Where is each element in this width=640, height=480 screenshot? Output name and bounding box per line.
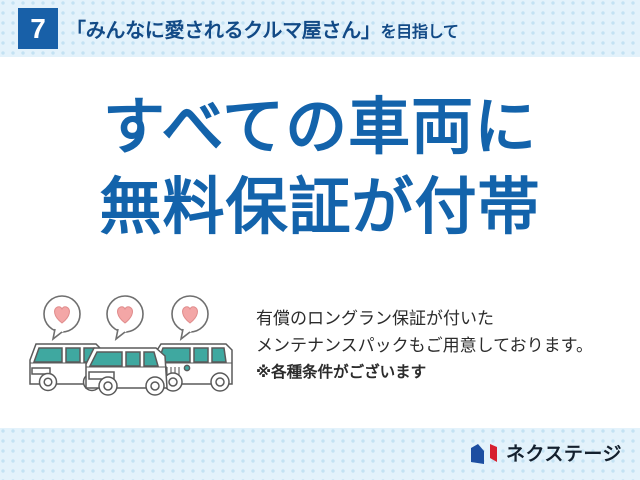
brand-logo-text: ネクステージ [506,439,622,466]
headline-line-2: 無料保証が付帯 [0,177,640,239]
car-minivan [86,348,167,395]
cars-svg [22,292,252,402]
brand-logo: ネクステージ [469,439,622,466]
header-title: 「みんなに愛されるクルマ屋さん」を目指して [66,14,459,43]
promo-poster: 7 「みんなに愛されるクルマ屋さん」を目指して すべての車両に 無料保証が付帯 [0,0,640,480]
cars-illustration [22,292,252,402]
header-title-tail: を目指して [381,24,459,41]
body-line-2: メンテナンスパックもご用意しております。 [256,332,593,359]
header-title-quote-open: 「 [66,20,86,42]
body-copy: 有償のロングラン保証が付いた メンテナンスパックもご用意しております。 ※各種条… [256,305,593,386]
headline: すべての車両に 無料保証が付帯 [0,97,640,239]
header-title-quote-close: 」 [361,20,381,42]
section-number-badge: 7 [18,8,58,49]
header-title-main: みんなに愛されるクルマ屋さん [86,20,361,42]
body-note: ※各種条件がございます [256,359,593,386]
body-line-1: 有償のロングラン保証が付いた [256,305,593,332]
nexstage-mark-icon [469,442,499,464]
headline-line-1: すべての車両に [0,97,640,159]
